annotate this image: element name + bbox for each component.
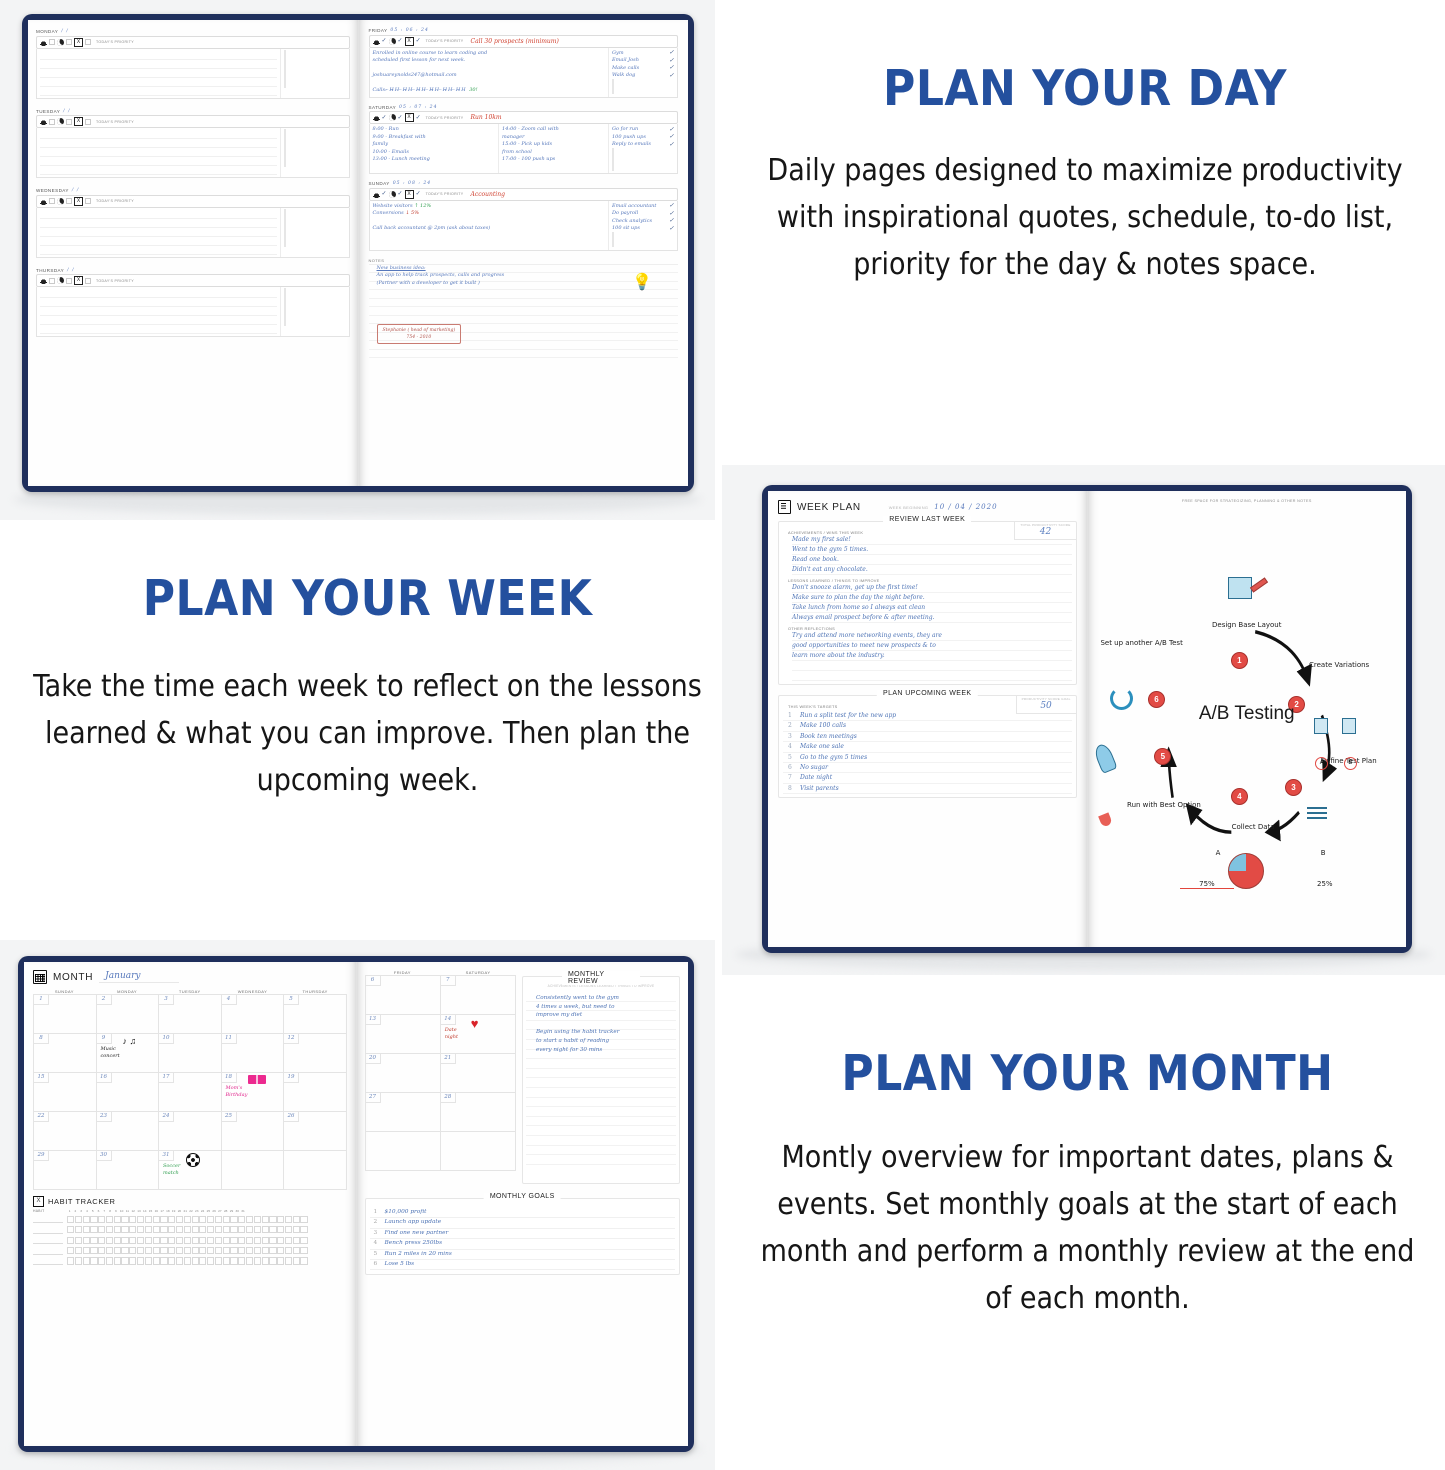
todo-row-empty[interactable] <box>612 80 674 88</box>
todo-row[interactable]: Gym✓ <box>612 50 674 58</box>
habit-cell[interactable] <box>230 1216 237 1223</box>
calendar-cell[interactable]: 31Soccermatch <box>159 1151 222 1189</box>
calendar-cell[interactable]: 5 <box>284 995 346 1033</box>
calendar-cell[interactable]: 13 <box>366 1015 441 1053</box>
habit-cell[interactable] <box>106 1226 113 1233</box>
habit-cell[interactable] <box>160 1237 167 1244</box>
habit-cell[interactable] <box>184 1237 191 1244</box>
calendar-cell[interactable] <box>366 1132 441 1170</box>
habit-cell[interactable] <box>137 1226 144 1233</box>
habit-cell[interactable] <box>137 1247 144 1254</box>
todo-row[interactable]: 100 push ups✓ <box>612 134 674 142</box>
calendar-cell[interactable]: 21 <box>441 1054 515 1092</box>
todo-checkbox[interactable] <box>284 159 286 167</box>
todo-checkbox[interactable] <box>284 216 286 224</box>
habit-cell[interactable] <box>168 1226 175 1233</box>
habit-cell[interactable] <box>67 1226 74 1233</box>
todo-row[interactable] <box>284 304 346 312</box>
habit-cell[interactable] <box>254 1226 261 1233</box>
habit-cell[interactable] <box>277 1226 284 1233</box>
todo-check[interactable]: ✓ <box>669 135 674 139</box>
habit-cell[interactable] <box>145 1216 152 1223</box>
checkbox[interactable] <box>66 278 72 284</box>
habit-cell[interactable] <box>262 1237 269 1244</box>
habit-cell[interactable] <box>223 1216 230 1223</box>
todo-row[interactable] <box>284 289 346 297</box>
target-row[interactable]: 5Go to the gym 5 times <box>783 753 1072 763</box>
habit-cell[interactable] <box>114 1216 121 1223</box>
habit-cell[interactable] <box>67 1247 74 1254</box>
habit-row[interactable] <box>33 1215 347 1223</box>
habit-cell[interactable] <box>207 1216 214 1223</box>
habit-cell[interactable] <box>168 1247 175 1254</box>
habit-cell[interactable] <box>75 1237 82 1244</box>
habit-cell[interactable] <box>75 1226 82 1233</box>
todo-row[interactable] <box>284 153 346 161</box>
todo-row[interactable] <box>284 210 346 218</box>
habit-cell[interactable] <box>160 1247 167 1254</box>
todo-row[interactable]: Walk dog✓ <box>612 72 674 80</box>
habit-cell[interactable] <box>75 1257 82 1264</box>
todo-column[interactable] <box>281 49 349 98</box>
habit-cell[interactable] <box>199 1247 206 1254</box>
habit-name-field[interactable] <box>33 1257 63 1265</box>
calendar-cell[interactable] <box>441 1132 515 1170</box>
calendar-cell[interactable]: 22 <box>34 1112 97 1150</box>
habit-cell[interactable] <box>223 1226 230 1233</box>
day-todo-column[interactable]: Gym✓Email Josh✓Make calls✓Walk dog✓ <box>609 48 677 97</box>
habit-cell[interactable] <box>254 1216 261 1223</box>
todo-row[interactable] <box>284 225 346 233</box>
todo-row[interactable] <box>284 138 346 146</box>
habit-cell[interactable] <box>160 1216 167 1223</box>
calendar-cell[interactable]: 8 <box>34 1034 97 1072</box>
habit-cell[interactable] <box>153 1237 160 1244</box>
calendar-cell[interactable]: 7 <box>441 976 515 1014</box>
habit-cell[interactable] <box>269 1226 276 1233</box>
habit-cell[interactable] <box>300 1226 307 1233</box>
calendar-cell[interactable]: 17 <box>159 1073 222 1111</box>
habit-cell[interactable] <box>67 1257 74 1264</box>
calendar-cell[interactable]: 10 <box>159 1034 222 1072</box>
calendar-cell[interactable]: 16 <box>97 1073 160 1111</box>
habit-cell[interactable] <box>153 1247 160 1254</box>
todo-checkbox[interactable] <box>284 239 286 247</box>
habit-cell[interactable] <box>137 1257 144 1264</box>
todo-check[interactable]: ✓ <box>669 59 674 63</box>
habit-name-field[interactable] <box>33 1215 63 1223</box>
checkbox[interactable] <box>49 278 55 284</box>
habit-row[interactable] <box>33 1226 347 1234</box>
target-row[interactable]: 8Visit parents <box>783 784 1072 794</box>
checkbox[interactable] <box>66 119 72 125</box>
todo-checkbox[interactable] <box>284 57 286 65</box>
notes-column[interactable] <box>37 208 281 257</box>
checkbox[interactable] <box>49 119 55 125</box>
habit-cell[interactable] <box>215 1247 222 1254</box>
habit-cell[interactable] <box>246 1247 253 1254</box>
todo-checkbox[interactable] <box>284 231 286 239</box>
todo-checkbox[interactable] <box>284 72 286 80</box>
habit-cell[interactable] <box>90 1257 97 1264</box>
calendar-cell[interactable]: 2 <box>97 995 160 1033</box>
goal-row[interactable]: 6Lose 5 lbs <box>370 1260 676 1270</box>
todo-check[interactable]: ✓ <box>669 143 674 147</box>
todo-check[interactable]: ✓ <box>669 204 674 208</box>
habit-cell[interactable] <box>98 1216 105 1223</box>
habit-cell[interactable] <box>207 1247 214 1254</box>
habit-cell[interactable] <box>238 1216 245 1223</box>
todo-column[interactable] <box>281 287 349 336</box>
habit-cell[interactable] <box>83 1216 90 1223</box>
calendar-cell[interactable]: 18Mom'sBirthday <box>222 1073 285 1111</box>
habit-cell[interactable] <box>215 1226 222 1233</box>
habit-row[interactable] <box>33 1247 347 1255</box>
habit-cell[interactable] <box>106 1237 113 1244</box>
habit-cell[interactable] <box>246 1237 253 1244</box>
habit-cell[interactable] <box>153 1226 160 1233</box>
habit-cell[interactable] <box>293 1216 300 1223</box>
habit-cell[interactable] <box>238 1247 245 1254</box>
habit-cell[interactable] <box>277 1247 284 1254</box>
habit-cell[interactable] <box>83 1257 90 1264</box>
todo-row[interactable] <box>284 297 346 305</box>
todo-checkbox[interactable] <box>284 288 286 296</box>
habit-name-field[interactable] <box>33 1236 63 1244</box>
habit-cell[interactable] <box>230 1257 237 1264</box>
habit-cell[interactable] <box>121 1237 128 1244</box>
todo-check[interactable]: ✓ <box>669 219 674 223</box>
todo-checkbox[interactable] <box>612 239 614 247</box>
habit-cell[interactable] <box>75 1247 82 1254</box>
checkbox[interactable] <box>85 39 91 45</box>
habit-cell[interactable] <box>90 1237 97 1244</box>
todo-row[interactable]: Reply to emails✓ <box>612 141 674 149</box>
todo-checkbox[interactable] <box>284 144 286 152</box>
todo-row-empty[interactable] <box>612 149 674 157</box>
todo-check[interactable]: ✓ <box>669 66 674 70</box>
target-row[interactable]: 7Date night <box>783 773 1072 783</box>
habit-cell[interactable] <box>168 1216 175 1223</box>
day-todo-column[interactable]: Email accountant✓Do payroll✓Check analyt… <box>609 201 677 250</box>
habit-cell[interactable] <box>192 1237 199 1244</box>
habit-cell[interactable] <box>269 1237 276 1244</box>
habit-cell[interactable] <box>223 1237 230 1244</box>
habit-cell[interactable] <box>262 1216 269 1223</box>
habit-cell[interactable] <box>199 1226 206 1233</box>
day-notes-column[interactable]: Website visitors ↑ 12%Conversions ↓ 5% C… <box>370 201 610 250</box>
todo-check[interactable]: ✓ <box>669 51 674 55</box>
todo-row[interactable]: Do payroll✓ <box>612 210 674 218</box>
habit-cell[interactable] <box>145 1237 152 1244</box>
todo-check[interactable]: ✓ <box>669 128 674 132</box>
habit-cell[interactable] <box>83 1226 90 1233</box>
habit-name-field[interactable] <box>33 1226 63 1234</box>
habit-cell[interactable] <box>114 1257 121 1264</box>
calendar-cell[interactable]: 15 <box>34 1073 97 1111</box>
habit-cell[interactable] <box>145 1226 152 1233</box>
goal-row[interactable]: 5Run 2 miles in 20 mins <box>370 1250 676 1260</box>
calendar-cell[interactable]: 4 <box>222 995 285 1033</box>
habit-cell[interactable] <box>160 1257 167 1264</box>
habit-cell[interactable] <box>129 1237 136 1244</box>
calendar-cell[interactable]: 1 <box>34 995 97 1033</box>
habit-cell[interactable] <box>246 1226 253 1233</box>
habit-cell[interactable] <box>199 1257 206 1264</box>
habit-cell[interactable] <box>114 1237 121 1244</box>
todo-row[interactable]: Check analytics✓ <box>612 218 674 226</box>
habit-cell[interactable] <box>293 1257 300 1264</box>
calendar-cell[interactable]: 26 <box>284 1112 346 1150</box>
habit-cell[interactable] <box>176 1216 183 1223</box>
habit-cell[interactable] <box>184 1247 191 1254</box>
target-row[interactable]: 4Make one sale <box>783 742 1072 752</box>
habit-cell[interactable] <box>129 1257 136 1264</box>
calendar-cell[interactable]: 19 <box>284 1073 346 1111</box>
habit-cell[interactable] <box>230 1226 237 1233</box>
habit-cell[interactable] <box>121 1247 128 1254</box>
habit-cell[interactable] <box>121 1226 128 1233</box>
checkbox[interactable] <box>85 278 91 284</box>
habit-cell[interactable] <box>230 1247 237 1254</box>
checkbox[interactable] <box>85 198 91 204</box>
habit-cell[interactable] <box>285 1237 292 1244</box>
todo-row-empty[interactable] <box>612 233 674 241</box>
habit-cell[interactable] <box>176 1237 183 1244</box>
calendar-cell[interactable]: 30 <box>97 1151 160 1189</box>
habit-cell[interactable] <box>192 1226 199 1233</box>
habit-cell[interactable] <box>121 1257 128 1264</box>
todo-check[interactable]: ✓ <box>669 227 674 231</box>
habit-cell[interactable] <box>254 1257 261 1264</box>
habit-cell[interactable] <box>184 1257 191 1264</box>
todo-row[interactable] <box>284 217 346 225</box>
goal-row[interactable]: 2Launch app update <box>370 1218 676 1228</box>
todo-row[interactable] <box>284 312 346 320</box>
notes-column[interactable] <box>37 49 281 98</box>
calendar-cell[interactable] <box>284 1151 346 1189</box>
habit-cell[interactable] <box>83 1247 90 1254</box>
habit-cell[interactable] <box>184 1216 191 1223</box>
habit-cell[interactable] <box>293 1247 300 1254</box>
habit-cell[interactable] <box>75 1216 82 1223</box>
todo-row-empty[interactable] <box>612 87 674 95</box>
habit-cell[interactable] <box>176 1247 183 1254</box>
habit-cell[interactable] <box>176 1257 183 1264</box>
habit-name-field[interactable] <box>33 1247 63 1255</box>
habit-cell[interactable] <box>106 1247 113 1254</box>
todo-row[interactable] <box>284 319 346 327</box>
habit-cell[interactable] <box>98 1237 105 1244</box>
day-schedule-column[interactable]: 14:00 - Zoom call with manager15:00 - Pi… <box>499 124 609 173</box>
habit-cell[interactable] <box>121 1216 128 1223</box>
calendar-cell[interactable]: 24 <box>159 1112 222 1150</box>
todo-row[interactable] <box>284 51 346 59</box>
todo-check[interactable]: ✓ <box>669 74 674 78</box>
habit-cell[interactable] <box>269 1247 276 1254</box>
day-notes-column[interactable]: Enrolled in online course to learn codin… <box>370 48 610 97</box>
habit-cell[interactable] <box>114 1226 121 1233</box>
habit-cell[interactable] <box>98 1247 105 1254</box>
calendar-cell[interactable]: 23 <box>97 1112 160 1150</box>
habit-cell[interactable] <box>285 1216 292 1223</box>
calendar-cell[interactable]: 6 <box>366 976 441 1014</box>
habit-cell[interactable] <box>238 1226 245 1233</box>
checkbox[interactable] <box>66 198 72 204</box>
todo-row[interactable] <box>284 145 346 153</box>
calendar-cell[interactable]: 12 <box>284 1034 346 1072</box>
habit-cell[interactable] <box>223 1247 230 1254</box>
habit-cell[interactable] <box>269 1216 276 1223</box>
habit-cell[interactable] <box>145 1257 152 1264</box>
goal-row[interactable]: 3Find one new partner <box>370 1229 676 1239</box>
habit-cell[interactable] <box>215 1257 222 1264</box>
calendar-cell[interactable]: 25 <box>222 1112 285 1150</box>
habit-cell[interactable] <box>207 1226 214 1233</box>
todo-row[interactable] <box>284 66 346 74</box>
todo-row[interactable]: Make calls✓ <box>612 65 674 73</box>
habit-cell[interactable] <box>285 1257 292 1264</box>
habit-cell[interactable] <box>215 1237 222 1244</box>
habit-cell[interactable] <box>262 1257 269 1264</box>
todo-checkbox[interactable] <box>284 129 286 137</box>
habit-cell[interactable] <box>207 1257 214 1264</box>
habit-cell[interactable] <box>98 1257 105 1264</box>
todo-row-empty[interactable] <box>612 156 674 164</box>
todo-row[interactable] <box>284 58 346 66</box>
habit-cell[interactable] <box>129 1226 136 1233</box>
todo-row[interactable] <box>284 240 346 248</box>
target-row[interactable]: 2Make 100 calls <box>783 721 1072 731</box>
habit-cell[interactable] <box>300 1257 307 1264</box>
todo-checkbox[interactable] <box>612 155 614 163</box>
todo-row-empty[interactable] <box>612 240 674 248</box>
calendar-cell[interactable]: 9♪ ♫Musicconcert <box>97 1034 160 1072</box>
habit-cell[interactable] <box>90 1216 97 1223</box>
checkbox[interactable] <box>49 39 55 45</box>
habit-cell[interactable] <box>176 1226 183 1233</box>
habit-cell[interactable] <box>238 1237 245 1244</box>
calendar-cell[interactable]: 29 <box>34 1151 97 1189</box>
todo-row[interactable] <box>284 160 346 168</box>
habit-cell[interactable] <box>215 1216 222 1223</box>
calendar-cell[interactable]: 28 <box>441 1093 515 1131</box>
habit-cell[interactable] <box>277 1237 284 1244</box>
todo-checkbox[interactable] <box>284 80 286 88</box>
todo-column[interactable] <box>281 128 349 177</box>
habit-cell[interactable] <box>285 1247 292 1254</box>
calendar-cell[interactable] <box>222 1151 285 1189</box>
habit-cell[interactable] <box>277 1257 284 1264</box>
habit-cell[interactable] <box>300 1216 307 1223</box>
calendar-cell[interactable]: 11 <box>222 1034 285 1072</box>
habit-cell[interactable] <box>262 1226 269 1233</box>
habit-cell[interactable] <box>192 1257 199 1264</box>
habit-cell[interactable] <box>246 1216 253 1223</box>
habit-cell[interactable] <box>192 1247 199 1254</box>
habit-cell[interactable] <box>67 1237 74 1244</box>
habit-cell[interactable] <box>199 1237 206 1244</box>
habit-cell[interactable] <box>254 1247 261 1254</box>
habit-cell[interactable] <box>238 1257 245 1264</box>
habit-cell[interactable] <box>114 1247 121 1254</box>
habit-cell[interactable] <box>207 1237 214 1244</box>
todo-row[interactable] <box>284 232 346 240</box>
habit-cell[interactable] <box>300 1247 307 1254</box>
habit-cell[interactable] <box>192 1216 199 1223</box>
todo-checkbox[interactable] <box>284 318 286 326</box>
todo-row-empty[interactable] <box>612 164 674 172</box>
habit-cell[interactable] <box>106 1216 113 1223</box>
todo-checkbox[interactable] <box>284 303 286 311</box>
habit-cell[interactable] <box>293 1226 300 1233</box>
notes-column[interactable] <box>37 287 281 336</box>
target-row[interactable]: 3Book ten meetings <box>783 732 1072 742</box>
habit-cell[interactable] <box>246 1257 253 1264</box>
habit-cell[interactable] <box>300 1237 307 1244</box>
habit-cell[interactable] <box>67 1216 74 1223</box>
habit-row[interactable] <box>33 1236 347 1244</box>
checkbox[interactable] <box>49 198 55 204</box>
todo-row[interactable] <box>284 73 346 81</box>
habit-cell[interactable] <box>293 1237 300 1244</box>
todo-check[interactable]: ✓ <box>669 212 674 216</box>
calendar-cell[interactable]: 27 <box>366 1093 441 1131</box>
day-notes-column[interactable]: 8:00 - Run9:00 - Breakfast with family10… <box>370 124 500 173</box>
day-todo-column[interactable]: Go for run✓100 push ups✓Reply to emails✓ <box>609 124 677 173</box>
goal-row[interactable]: 1$10,000 profit <box>370 1208 676 1218</box>
habit-cell[interactable] <box>184 1226 191 1233</box>
habit-cell[interactable] <box>285 1226 292 1233</box>
habit-cell[interactable] <box>199 1216 206 1223</box>
habit-cell[interactable] <box>137 1237 144 1244</box>
calendar-cell[interactable]: 20 <box>366 1054 441 1092</box>
habit-cell[interactable] <box>90 1226 97 1233</box>
todo-row[interactable]: Go for run✓ <box>612 126 674 134</box>
habit-cell[interactable] <box>90 1247 97 1254</box>
habit-cell[interactable] <box>145 1247 152 1254</box>
goal-row[interactable]: 4Bench press 250lbs <box>370 1239 676 1249</box>
checkbox[interactable] <box>85 119 91 125</box>
todo-column[interactable] <box>281 208 349 257</box>
todo-checkbox[interactable] <box>612 163 614 171</box>
habit-cell[interactable] <box>153 1257 160 1264</box>
habit-cell[interactable] <box>277 1216 284 1223</box>
habit-cell[interactable] <box>168 1237 175 1244</box>
todo-checkbox[interactable] <box>612 86 614 94</box>
habit-cell[interactable] <box>129 1216 136 1223</box>
todo-row[interactable] <box>284 81 346 89</box>
calendar-cell[interactable]: 14♥Datenight <box>441 1015 515 1053</box>
habit-cell[interactable] <box>98 1226 105 1233</box>
habit-cell[interactable] <box>254 1237 261 1244</box>
habit-cell[interactable] <box>129 1247 136 1254</box>
habit-cell[interactable] <box>230 1237 237 1244</box>
checkbox[interactable] <box>66 39 72 45</box>
habit-cell[interactable] <box>106 1257 113 1264</box>
habit-cell[interactable] <box>137 1216 144 1223</box>
calendar-cell[interactable]: 3 <box>159 995 222 1033</box>
habit-cell[interactable] <box>262 1247 269 1254</box>
todo-row[interactable]: Email Josh✓ <box>612 57 674 65</box>
habit-cell[interactable] <box>160 1226 167 1233</box>
target-row[interactable]: 6No sugar <box>783 763 1072 773</box>
notes-column[interactable] <box>37 128 281 177</box>
todo-row[interactable]: 100 sit ups✓ <box>612 225 674 233</box>
habit-cell[interactable] <box>269 1257 276 1264</box>
habit-cell[interactable] <box>83 1237 90 1244</box>
habit-cell[interactable] <box>223 1257 230 1264</box>
